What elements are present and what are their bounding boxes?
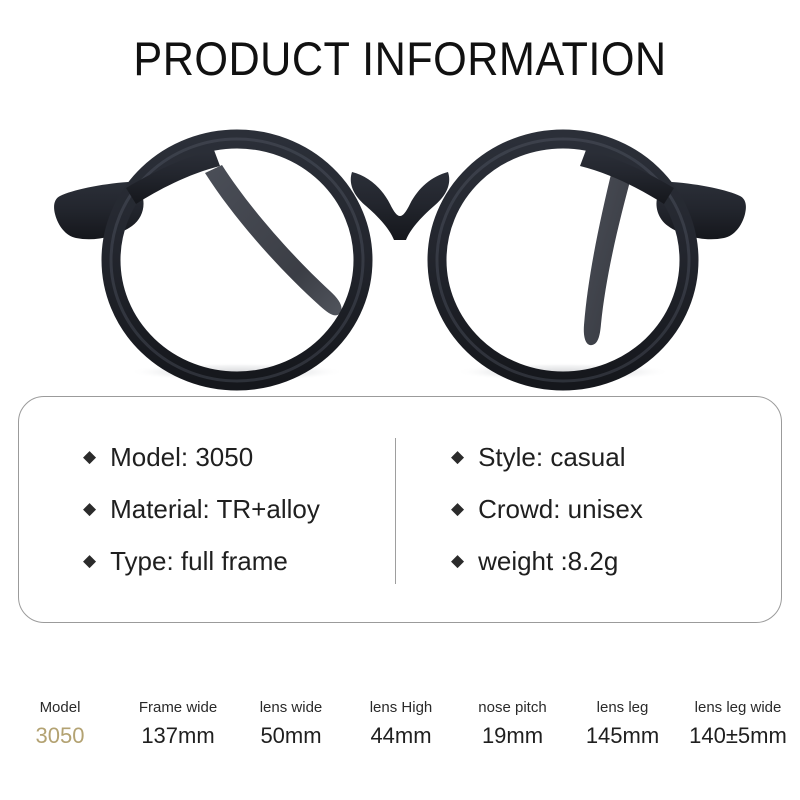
page-title: PRODUCT INFORMATION: [32, 30, 768, 88]
spec-item-style: ◆ Style: casual: [451, 431, 643, 483]
value-nose-pitch: 19mm: [456, 719, 569, 753]
temple-arm-left: [205, 165, 342, 315]
column-header-nose-pitch: nose pitch: [456, 697, 569, 719]
table-header-row: Model Frame wide lens wide lens High nos…: [0, 697, 800, 719]
dimensions-table-grid: Model Frame wide lens wide lens High nos…: [0, 697, 800, 753]
value-model: 3050: [0, 719, 120, 753]
spec-item-label: Crowd: unisex: [478, 494, 643, 524]
table-row: 3050 137mm 50mm 44mm 19mm 145mm 140±5mm: [0, 719, 800, 753]
column-header-lens-wide: lens wide: [236, 697, 346, 719]
eyeglasses-illustration: [0, 110, 800, 395]
spec-column-right: ◆ Style: casual ◆ Crowd: unisex ◆ weight…: [451, 431, 643, 587]
column-header-model: Model: [0, 697, 120, 719]
diamond-bullet-icon: ◆: [451, 552, 464, 569]
spec-card: ◆ Model: 3050 ◆ Material: TR+alloy ◆ Typ…: [18, 396, 782, 623]
diamond-bullet-icon: ◆: [451, 500, 464, 517]
diamond-bullet-icon: ◆: [83, 552, 96, 569]
spec-item-label: Model: 3050: [110, 442, 253, 472]
column-header-lens-leg: lens leg: [569, 697, 676, 719]
column-header-lens-leg-wide: lens leg wide: [676, 697, 800, 719]
spec-item-label: Style: casual: [478, 442, 625, 472]
value-lens-wide: 50mm: [236, 719, 346, 753]
spec-item-model: ◆ Model: 3050: [83, 431, 320, 483]
spec-column-left: ◆ Model: 3050 ◆ Material: TR+alloy ◆ Typ…: [83, 431, 320, 587]
value-frame-wide: 137mm: [120, 719, 236, 753]
spec-item-label: Type: full frame: [110, 546, 288, 576]
value-lens-high: 44mm: [346, 719, 456, 753]
product-image: [0, 110, 800, 395]
spec-item-label: weight :8.2g: [478, 546, 618, 576]
spec-item-label: Material: TR+alloy: [110, 494, 320, 524]
spec-item-material: ◆ Material: TR+alloy: [83, 483, 320, 535]
spec-item-type: ◆ Type: full frame: [83, 535, 320, 587]
spec-item-crowd: ◆ Crowd: unisex: [451, 483, 643, 535]
lens-highlight-right: [437, 139, 689, 381]
diamond-bullet-icon: ◆: [451, 448, 464, 465]
spec-column-divider: [395, 438, 396, 584]
dimensions-table: Model Frame wide lens wide lens High nos…: [0, 697, 800, 753]
spec-item-weight: ◆ weight :8.2g: [451, 535, 643, 587]
diamond-bullet-icon: ◆: [83, 448, 96, 465]
column-header-frame-wide: Frame wide: [120, 697, 236, 719]
lens-highlight-left: [111, 139, 363, 381]
column-header-lens-high: lens High: [346, 697, 456, 719]
temple-arm-right: [584, 170, 632, 345]
value-lens-leg-wide: 140±5mm: [676, 719, 800, 753]
value-lens-leg: 145mm: [569, 719, 676, 753]
diamond-bullet-icon: ◆: [83, 500, 96, 517]
